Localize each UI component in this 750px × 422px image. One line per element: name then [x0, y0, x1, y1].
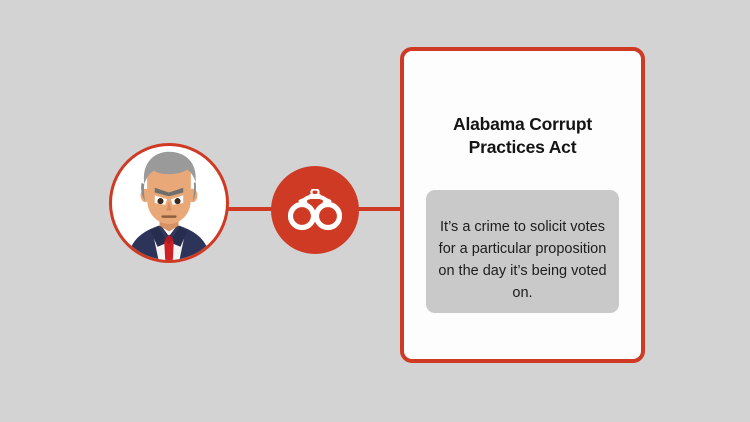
card-title: Alabama Corrupt Practices Act — [423, 113, 623, 159]
handcuffs-badge — [271, 166, 359, 254]
handcuffs-icon — [288, 189, 342, 231]
avatar — [109, 143, 229, 263]
card-note: It’s a crime to solicit votes for a part… — [426, 190, 619, 313]
connector-avatar-to-badge — [222, 207, 278, 211]
avatar-illustration — [112, 146, 226, 260]
info-card: Alabama Corrupt Practices Act It’s a cri… — [400, 47, 645, 363]
infographic-stage: Alabama Corrupt Practices Act It’s a cri… — [0, 0, 750, 422]
